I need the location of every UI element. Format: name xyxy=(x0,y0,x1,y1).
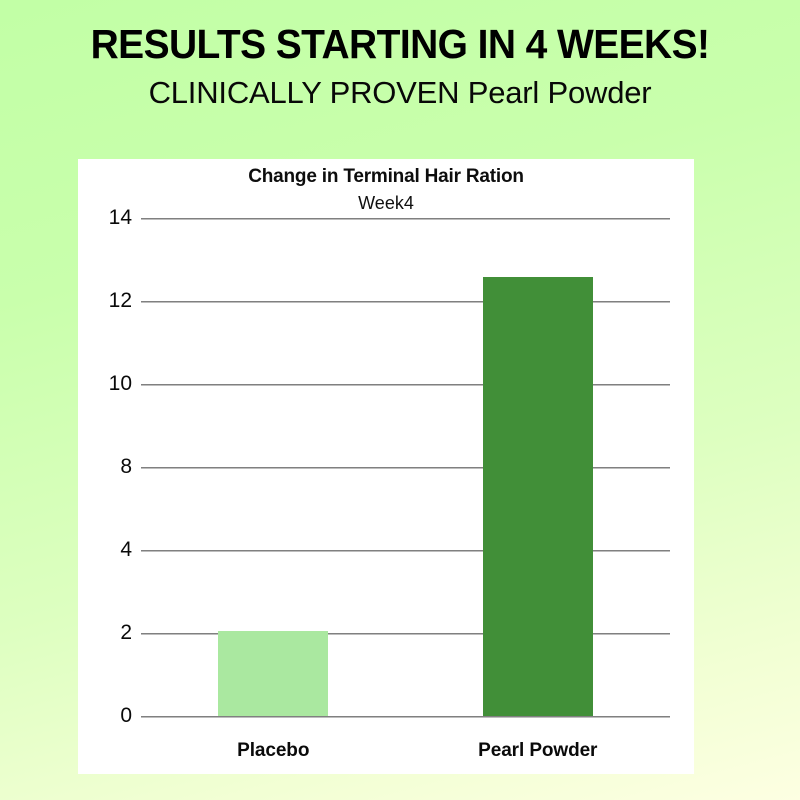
poster-root: RESULTS STARTING IN 4 WEEKS! CLINICALLY … xyxy=(0,0,800,800)
page-subtitle: CLINICALLY PROVEN Pearl Powder xyxy=(0,74,800,113)
y-axis-tick-label: 10 xyxy=(78,372,132,396)
y-axis-tick-label: 8 xyxy=(78,455,132,479)
chart-card: Change in Terminal Hair Ration Week4 141… xyxy=(78,159,694,774)
gridline xyxy=(141,716,670,717)
x-axis-label-placebo: Placebo xyxy=(141,740,406,762)
gridline xyxy=(141,218,670,219)
bar-pearl-powder xyxy=(483,277,593,716)
x-axis-label-pearl-powder: Pearl Powder xyxy=(406,740,671,762)
headline-block: RESULTS STARTING IN 4 WEEKS! CLINICALLY … xyxy=(0,22,800,113)
y-axis-tick-label: 2 xyxy=(78,621,132,645)
bar-chart-plot: 1412108420PlaceboPearl Powder xyxy=(78,159,694,774)
page-title: RESULTS STARTING IN 4 WEEKS! xyxy=(20,22,780,67)
y-axis-tick-label: 4 xyxy=(78,538,132,562)
bar-placebo xyxy=(218,631,328,716)
y-axis-tick-label: 14 xyxy=(78,206,132,230)
y-axis-tick-label: 12 xyxy=(78,289,132,313)
y-axis-tick-label: 0 xyxy=(78,704,132,728)
